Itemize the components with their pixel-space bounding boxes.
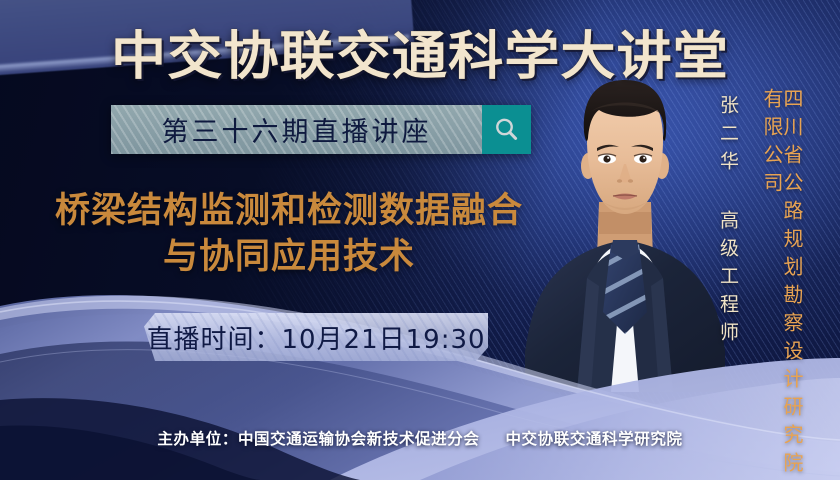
broadcast-time-text: 直播时间：10月21日19:30 xyxy=(146,319,485,356)
headline-line-2: 与协同应用技术 xyxy=(0,234,578,280)
footer-organizer-2: 中交协联交通科学研究院 xyxy=(505,430,682,448)
search-icon-container[interactable] xyxy=(482,105,531,154)
footer-prefix: 主办单位： xyxy=(157,430,238,448)
page-title: 中交协联交通科学大讲堂 xyxy=(0,14,840,89)
footer-organizer-1: 中国交通运输协会新技术促进分会 xyxy=(238,430,480,448)
speaker-name-and-title: 张二华 高级工程师 xyxy=(718,95,737,350)
live-lecture-poster: 中交协联交通科学大讲堂 第三十六期直播讲座 桥梁结构监测和检测数据融合 与协同应… xyxy=(0,0,840,480)
lecture-headline: 桥梁结构监测和检测数据融合 与协同应用技术 xyxy=(0,188,578,280)
headline-line-1: 桥梁结构监测和检测数据融合 xyxy=(55,191,523,231)
speaker-organization: 四川省公路规划勘察设计研究院有限公司 xyxy=(762,88,802,480)
session-label: 第三十六期直播讲座 xyxy=(162,110,432,149)
broadcast-time-badge: 直播时间：10月21日19:30 xyxy=(144,313,488,361)
session-label-container: 第三十六期直播讲座 xyxy=(111,105,482,154)
footer-organizers: 主办单位：中国交通运输协会新技术促进分会中交协联交通科学研究院 xyxy=(0,427,840,449)
search-icon xyxy=(493,116,520,143)
session-bar: 第三十六期直播讲座 xyxy=(111,105,531,154)
